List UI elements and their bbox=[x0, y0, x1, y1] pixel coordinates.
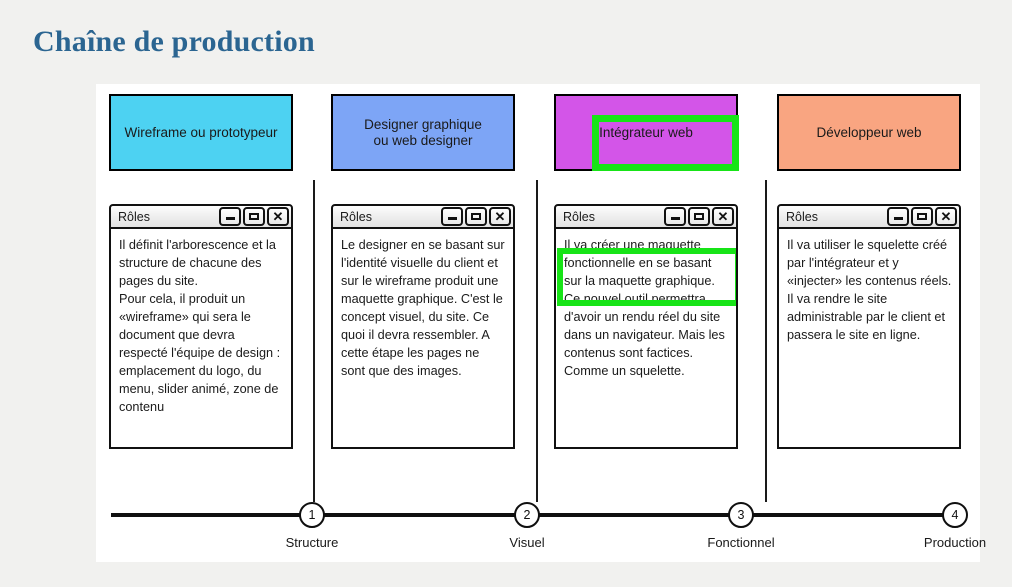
close-icon[interactable]: ✕ bbox=[489, 207, 511, 226]
column-structure: Wireframe ou prototypeur Rôles ✕ Il défi… bbox=[96, 84, 317, 562]
timeline-step-4[interactable]: 4 Production bbox=[895, 494, 1012, 550]
maximize-icon[interactable] bbox=[688, 207, 710, 226]
close-icon[interactable]: ✕ bbox=[935, 207, 957, 226]
timeline-step-2[interactable]: 2 Visuel bbox=[467, 494, 587, 550]
timeline-step-3[interactable]: 3 Fonctionnel bbox=[681, 494, 801, 550]
window-title: Rôles bbox=[556, 210, 595, 224]
timeline-step-number: 4 bbox=[942, 502, 968, 528]
role-description: Il définit l'arborescence et la structur… bbox=[119, 236, 284, 416]
timeline-step-label: Production bbox=[895, 535, 1012, 550]
role-box-label: Intégrateur web bbox=[593, 125, 699, 141]
window-buttons: ✕ bbox=[219, 207, 289, 226]
window-title: Rôles bbox=[779, 210, 818, 224]
role-box-integrateur[interactable]: Intégrateur web bbox=[554, 94, 738, 171]
timeline-step-label: Fonctionnel bbox=[681, 535, 801, 550]
window-body: Il va utiliser le squelette créé par l'i… bbox=[777, 229, 961, 449]
roles-window: Rôles ✕ Il va utiliser le squelette créé… bbox=[777, 204, 961, 449]
highlight-annotation-role bbox=[592, 115, 739, 171]
role-description: Il va utiliser le squelette créé par l'i… bbox=[787, 236, 952, 344]
production-chain-card: Wireframe ou prototypeur Rôles ✕ Il défi… bbox=[96, 84, 980, 562]
window-buttons: ✕ bbox=[664, 207, 734, 226]
minimize-icon[interactable] bbox=[219, 207, 241, 226]
window-buttons: ✕ bbox=[887, 207, 957, 226]
timeline-step-1[interactable]: 1 Structure bbox=[252, 494, 372, 550]
column-production: Développeur web Rôles ✕ Il va utiliser l… bbox=[764, 84, 985, 562]
window-title: Rôles bbox=[111, 210, 150, 224]
window-titlebar[interactable]: Rôles ✕ bbox=[777, 204, 961, 229]
maximize-icon[interactable] bbox=[465, 207, 487, 226]
timeline: 1 Structure 2 Visuel 3 Fonctionnel 4 Pro… bbox=[111, 494, 965, 556]
close-icon[interactable]: ✕ bbox=[267, 207, 289, 226]
timeline-step-number: 1 bbox=[299, 502, 325, 528]
page-title: Chaîne de production bbox=[33, 25, 315, 59]
role-box-label: Wireframe ou prototypeur bbox=[118, 125, 283, 141]
role-description: Il va créer une maquette fonctionnelle e… bbox=[564, 236, 729, 380]
columns-container: Wireframe ou prototypeur Rôles ✕ Il défi… bbox=[96, 84, 980, 562]
window-title: Rôles bbox=[333, 210, 372, 224]
maximize-icon[interactable] bbox=[911, 207, 933, 226]
roles-window: Rôles ✕ Il définit l'arborescence et la … bbox=[109, 204, 293, 449]
roles-window: Rôles ✕ Le designer en se basant sur l'i… bbox=[331, 204, 515, 449]
minimize-icon[interactable] bbox=[664, 207, 686, 226]
timeline-step-label: Structure bbox=[252, 535, 372, 550]
roles-window: Rôles ✕ Il va créer une maquette fonctio… bbox=[554, 204, 738, 449]
role-box-label: Développeur web bbox=[810, 125, 927, 141]
column-fonctionnel: Intégrateur web Rôles ✕ Il va créer une … bbox=[541, 84, 762, 562]
window-body: Il va créer une maquette fonctionnelle e… bbox=[554, 229, 738, 449]
window-titlebar[interactable]: Rôles ✕ bbox=[109, 204, 293, 229]
role-box-wireframe[interactable]: Wireframe ou prototypeur bbox=[109, 94, 293, 171]
role-box-developpeur[interactable]: Développeur web bbox=[777, 94, 961, 171]
timeline-step-label: Visuel bbox=[467, 535, 587, 550]
window-titlebar[interactable]: Rôles ✕ bbox=[331, 204, 515, 229]
role-box-label: Designer graphique ou web designer bbox=[358, 117, 488, 149]
timeline-step-number: 2 bbox=[514, 502, 540, 528]
maximize-icon[interactable] bbox=[243, 207, 265, 226]
column-visuel: Designer graphique ou web designer Rôles… bbox=[318, 84, 539, 562]
minimize-icon[interactable] bbox=[441, 207, 463, 226]
window-body: Le designer en se basant sur l'identité … bbox=[331, 229, 515, 449]
window-body: Il définit l'arborescence et la structur… bbox=[109, 229, 293, 449]
window-buttons: ✕ bbox=[441, 207, 511, 226]
role-box-designer[interactable]: Designer graphique ou web designer bbox=[331, 94, 515, 171]
window-titlebar[interactable]: Rôles ✕ bbox=[554, 204, 738, 229]
role-description: Le designer en se basant sur l'identité … bbox=[341, 236, 506, 380]
close-icon[interactable]: ✕ bbox=[712, 207, 734, 226]
timeline-step-number: 3 bbox=[728, 502, 754, 528]
minimize-icon[interactable] bbox=[887, 207, 909, 226]
